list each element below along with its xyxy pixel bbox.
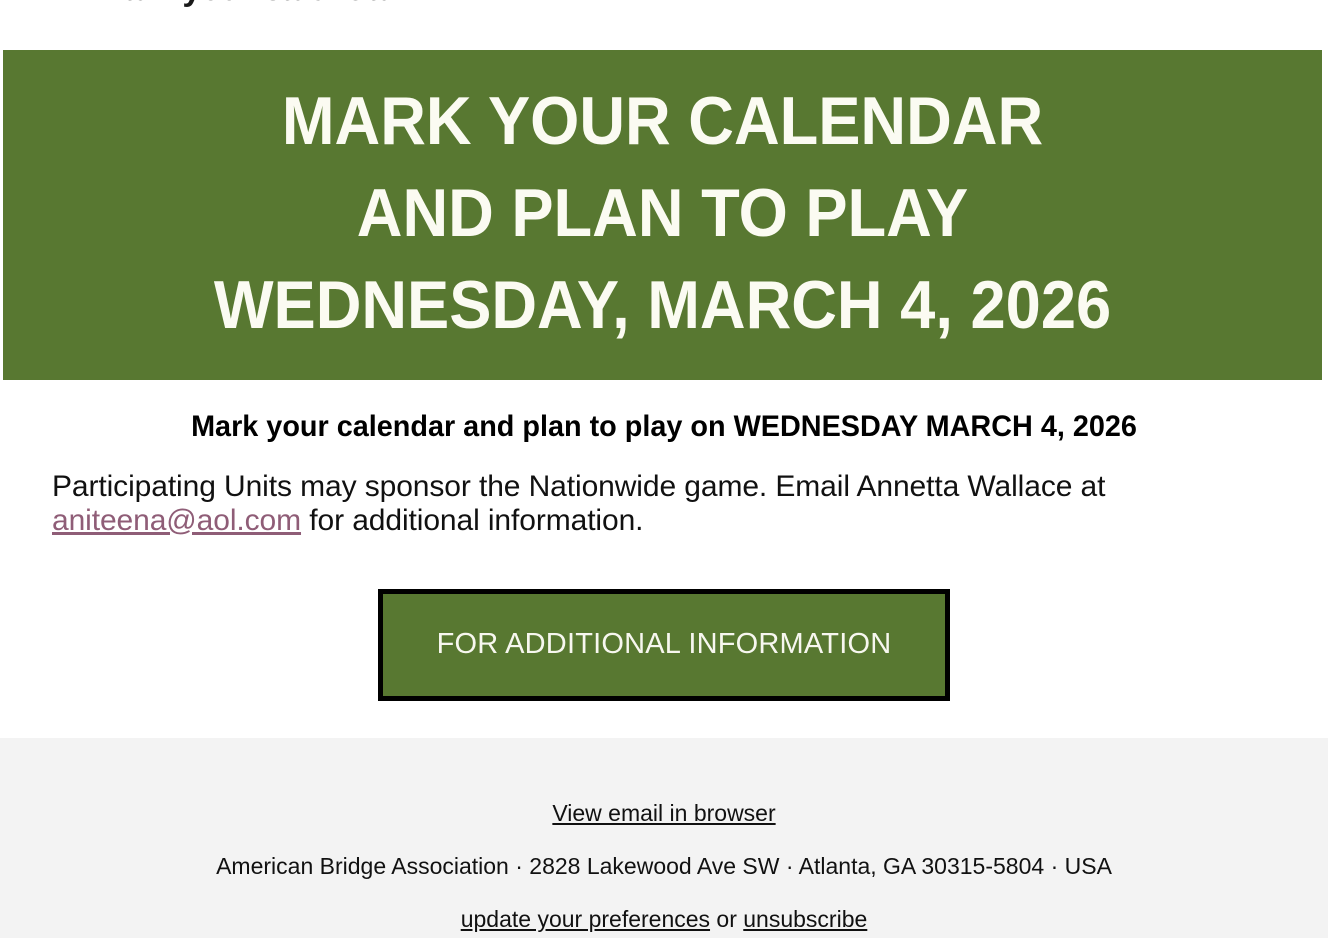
footer-preferences-row: update your preferences or unsubscribe <box>0 906 1328 933</box>
hero-line-1: MARK YOUR CALENDAR <box>49 76 1276 168</box>
hero-line-2: AND PLAN TO PLAY <box>49 168 1276 260</box>
footer-separator: or <box>710 906 743 932</box>
body-section: Mark your calendar and plan to play on W… <box>0 380 1328 738</box>
paragraph-text-before-link: Participating Units may sponsor the Nati… <box>52 470 1105 503</box>
view-in-browser-row: View email in browser <box>0 800 1328 827</box>
email-link-aniteena[interactable]: aniteena@aol.com <box>52 504 301 537</box>
clipped-text: Mark your calendar <box>96 0 399 9</box>
view-email-in-browser-link[interactable]: View email in browser <box>552 800 775 826</box>
hero-line-3: WEDNESDAY, MARCH 4, 2026 <box>49 260 1276 352</box>
update-preferences-link[interactable]: update your preferences <box>461 906 710 932</box>
email-body: Mark your calendar MARK YOUR CALENDAR AN… <box>0 0 1328 938</box>
event-subheading: Mark your calendar and plan to play on W… <box>27 410 1302 444</box>
email-footer: View email in browser American Bridge As… <box>0 738 1328 938</box>
hero-banner: MARK YOUR CALENDAR AND PLAN TO PLAY WEDN… <box>3 50 1322 380</box>
paragraph-text-after-link: for additional information. <box>301 504 643 537</box>
cta-container: FOR ADDITIONAL INFORMATION <box>0 589 1328 701</box>
footer-address: American Bridge Association · 2828 Lakew… <box>0 853 1328 880</box>
body-paragraph: Participating Units may sponsor the Nati… <box>0 470 1328 537</box>
unsubscribe-link[interactable]: unsubscribe <box>743 906 867 932</box>
for-additional-information-button[interactable]: FOR ADDITIONAL INFORMATION <box>378 589 951 701</box>
clipped-previous-content: Mark your calendar <box>0 0 1328 50</box>
